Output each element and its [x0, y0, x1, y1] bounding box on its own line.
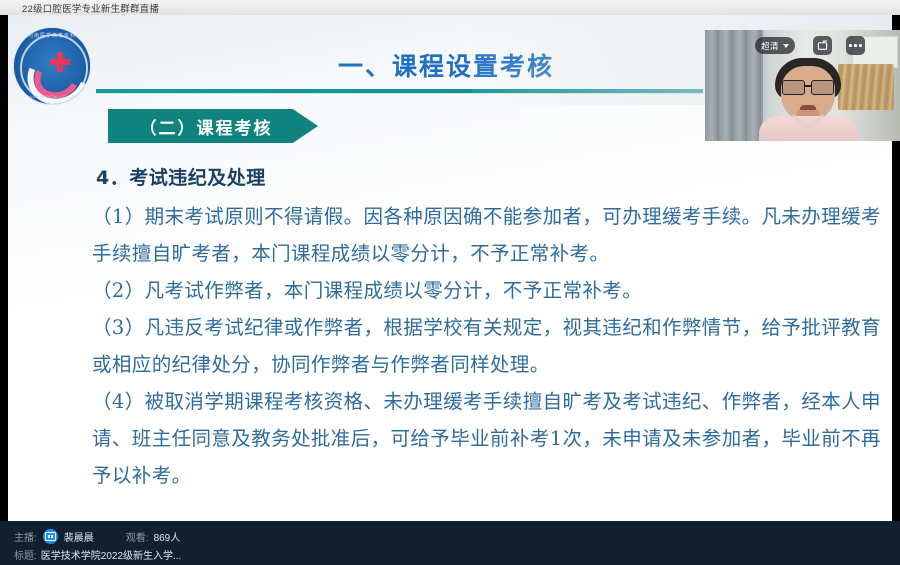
stream-title-value: 医学技术学院2022级新生入学...: [41, 547, 182, 562]
slide-paragraph: （2）凡考试作弊者，本门课程成绩以零分计，不予正常补考。: [92, 272, 882, 309]
viewer-count-group: 观看: 869人: [126, 529, 180, 544]
school-logo-icon: 河南医学高等专科 HENAN MEDICAL COLLEGE: [14, 28, 90, 104]
more-options-icon: [849, 44, 861, 47]
chevron-down-icon: [783, 44, 789, 48]
slide-paragraph: （3）凡违反考试纪律或作弊者，根据学校有关规定，视其违纪和作弊情节，给予批评教育…: [92, 309, 882, 383]
quality-selector[interactable]: 超清: [755, 37, 795, 54]
logo-arc-bottom-text: HENAN MEDICAL COLLEGE: [14, 95, 90, 99]
section-banner: （二）课程考核: [108, 109, 318, 143]
video-player-region[interactable]: 河南医学高等专科 HENAN MEDICAL COLLEGE 一、课程设置考核 …: [0, 15, 900, 521]
slide-section-heading: 4．考试违纪及处理: [96, 163, 266, 190]
stream-title-row: 标题: 医学技术学院2022级新生入学...: [14, 547, 181, 562]
stream-info-bar: 主播: 裴晨晨 观看: 869人 标题: 医学技术学院2022级新生入学...: [0, 521, 900, 565]
host-name: 裴晨晨: [64, 529, 94, 544]
picture-in-picture-button[interactable]: [813, 36, 832, 55]
picture-in-picture-icon: [817, 40, 828, 51]
logo-medical-cross-icon: [50, 52, 70, 72]
host-label: 主播:: [14, 529, 37, 544]
host-row: 主播: 裴晨晨 观看: 869人: [14, 529, 180, 544]
more-options-button[interactable]: [846, 36, 865, 55]
live-stream-player-window: 22级口腔医学专业新生群群直播 河南医学高等专科 HENAN MEDICAL C…: [0, 0, 900, 565]
viewers-value: 869人: [154, 529, 181, 544]
speaker-camera-view[interactable]: 超清: [705, 30, 900, 141]
speaker-figure: [757, 58, 861, 141]
stream-title-label: 标题:: [14, 547, 37, 562]
user-badge-icon: [45, 532, 56, 541]
viewers-label: 观看:: [126, 529, 149, 544]
slide-body-text: （1）期末考试原则不得请假。因各种原因确不能参加者，可办理缓考手续。凡未办理缓考…: [92, 198, 882, 494]
slide-title-divider: [96, 89, 703, 93]
logo-arc-top-text: 河南医学高等专科: [14, 32, 90, 39]
quality-label: 超清: [761, 40, 779, 52]
slide-title: 一、课程设置考核: [338, 47, 758, 83]
section-banner-label: （二）课程考核: [140, 114, 287, 139]
window-title: 22级口腔医学专业新生群群直播: [0, 1, 159, 15]
window-title-bar: 22级口腔医学专业新生群群直播: [0, 0, 900, 16]
camera-controls: 超清: [705, 30, 900, 60]
slide-paragraph: （4）被取消学期课程考核资格、未办理缓考手续擅自旷考及考试违纪、作弊者，经本人申…: [92, 383, 882, 494]
avatar[interactable]: [43, 529, 58, 544]
slide-paragraph: （1）期末考试原则不得请假。因各种原因确不能参加者，可办理缓考手续。凡未办理缓考…: [92, 198, 882, 272]
speaker-glasses-icon: [781, 80, 835, 93]
